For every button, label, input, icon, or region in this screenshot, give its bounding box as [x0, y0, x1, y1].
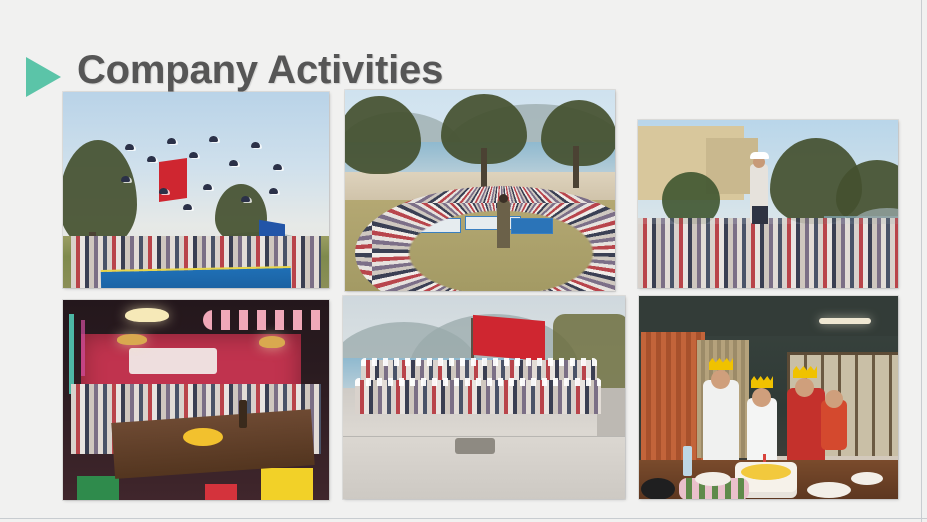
- pendant-lamp: [117, 334, 147, 345]
- tossed-cap: [125, 144, 134, 150]
- paving-patch: [455, 438, 495, 454]
- white-caps: [361, 358, 597, 366]
- tossed-cap: [167, 138, 176, 144]
- tossed-cap: [203, 184, 212, 190]
- slide-canvas: Company Activities: [0, 0, 927, 522]
- stone-post: [597, 388, 625, 436]
- ceiling: [639, 296, 898, 336]
- red-chair: [205, 484, 237, 500]
- food-plate: [695, 472, 731, 486]
- facilitator-head: [499, 194, 508, 203]
- white-caps: [355, 378, 601, 386]
- person-head: [795, 378, 814, 397]
- tossed-cap: [269, 188, 278, 194]
- hot-pot: [641, 478, 675, 499]
- gallery-photo-trust-fall-lift-activity[interactable]: [638, 120, 898, 288]
- ceiling-light: [819, 318, 871, 324]
- red-company-flag: [473, 315, 545, 361]
- tossed-cap: [229, 160, 238, 166]
- photo-scene: [63, 92, 329, 288]
- photo-scene: [638, 120, 898, 288]
- tossed-cap: [159, 188, 168, 194]
- water-bottle: [683, 446, 692, 476]
- person-head: [825, 390, 843, 408]
- slide-bottom-border: [0, 518, 927, 519]
- beer-bottle: [239, 400, 247, 428]
- paving-seam: [343, 436, 625, 437]
- photo-scene: [343, 296, 625, 499]
- red-flag: [159, 158, 187, 202]
- photo-scene: [63, 300, 329, 500]
- person-head: [711, 370, 730, 389]
- tossed-cap: [189, 152, 198, 158]
- cake-topping: [741, 464, 791, 480]
- photo-scene: [345, 90, 615, 291]
- tossed-cap: [209, 136, 218, 142]
- gallery-photo-restaurant-team-dinner[interactable]: [63, 300, 329, 500]
- woman-red-jacket: [787, 388, 825, 468]
- crowd-of-people: [638, 224, 898, 288]
- person-head: [752, 388, 771, 407]
- facilitator-body: [497, 200, 510, 248]
- pendant-lamp: [125, 308, 169, 322]
- tossed-cap: [183, 204, 192, 210]
- photo-scene: [639, 296, 898, 499]
- gallery-photo-outdoor-cap-toss-group-photo[interactable]: [63, 92, 329, 288]
- tossed-cap: [147, 156, 156, 162]
- food-plate: [807, 482, 851, 498]
- gallery-photo-waterfront-group-photo-with-flag[interactable]: [343, 296, 625, 499]
- tossed-cap: [241, 196, 250, 202]
- pendant-lamp: [259, 336, 285, 348]
- gallery-photo-beach-team-building-circle[interactable]: [345, 90, 615, 291]
- play-triangle-icon: [26, 57, 61, 97]
- food-bowl: [183, 428, 223, 446]
- tossed-cap: [273, 164, 282, 170]
- white-cap: [750, 152, 769, 159]
- neon-light: [81, 320, 85, 376]
- tree-trunk: [573, 146, 579, 188]
- yellow-chair: [261, 468, 313, 500]
- company-banner: [101, 266, 292, 288]
- tossed-cap: [251, 142, 260, 148]
- green-chair: [77, 476, 119, 500]
- orange-curtain: [641, 332, 705, 464]
- slide-right-border: [921, 0, 922, 522]
- neon-light: [69, 314, 74, 394]
- tossed-cap: [121, 176, 130, 182]
- food-plate: [851, 472, 883, 485]
- gallery-photo-indoor-birthday-celebration[interactable]: [639, 296, 898, 499]
- page-title: Company Activities: [77, 48, 443, 93]
- wall-signage: [129, 348, 217, 374]
- hanging-balloons: [203, 310, 329, 330]
- boy-white-shirt: [747, 398, 777, 466]
- woman-white-shirt: [703, 380, 739, 466]
